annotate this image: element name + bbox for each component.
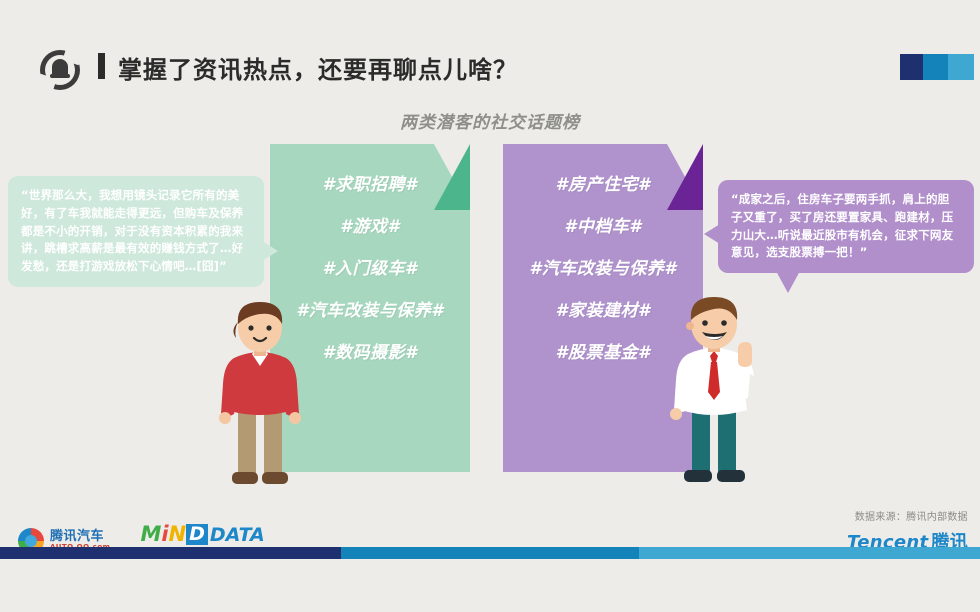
- topic-item: #汽车改装与保养#: [296, 296, 443, 321]
- corner-block-lightblue: [948, 54, 974, 80]
- corner-decoration-blocks: [900, 54, 974, 80]
- page-title: 掌握了资讯热点，还要再聊点儿啥？: [118, 50, 518, 85]
- mindata-letter-i: i: [161, 524, 168, 545]
- corner-block-blue: [923, 54, 948, 80]
- topic-item: #家装建材#: [556, 296, 651, 321]
- mindata-letter-n: N: [169, 524, 187, 545]
- speech-bubble-left: “世界那么大，我想用镜头记录它所有的美好，有了车我就能走得更远，但购车及保养都是…: [8, 176, 264, 287]
- speech-bubble-left-text: “世界那么大，我想用镜头记录它所有的美好，有了车我就能走得更远，但购车及保养都是…: [21, 188, 243, 273]
- source-note: 数据来源：腾讯内部数据: [847, 508, 968, 523]
- mindata-word-data: DATA: [210, 526, 265, 545]
- topic-item: #游戏#: [340, 212, 400, 237]
- camera-aperture-icon: [40, 50, 80, 90]
- topic-item: #中档车#: [564, 212, 641, 237]
- topic-item: #入门级车#: [323, 254, 418, 279]
- bottom-bar-lightblue: [639, 547, 980, 559]
- speech-bubble-left-tail-icon: [262, 241, 278, 261]
- topic-item: #股票基金#: [556, 338, 651, 363]
- mindata-letter-m: M: [140, 524, 161, 545]
- topic-item: #求职招聘#: [323, 170, 418, 195]
- topic-item: #房产住宅#: [556, 170, 651, 195]
- bottom-decoration-bar: [0, 547, 980, 559]
- speech-bubble-right-tail2-icon: [776, 271, 800, 293]
- young-man-red-sweater-illustration: [212, 300, 308, 492]
- topic-item: #数码摄影#: [323, 338, 418, 363]
- topic-item: #汽车改装与保养#: [529, 254, 676, 279]
- mindata-letter-d: D: [186, 524, 208, 545]
- bottom-bar-navy: [0, 547, 341, 559]
- man-white-shirt-red-tie-illustration: [662, 296, 766, 492]
- speech-bubble-right-text: “成家之后，住房车子要两手抓，肩上的胆子又重了，买了房还要置家具、跑建材，压力山…: [731, 192, 953, 259]
- chart-subtitle: 两类潜客的社交话题榜: [0, 108, 980, 133]
- slide-canvas: 掌握了资讯热点，还要再聊点儿啥？ 两类潜客的社交话题榜 #求职招聘# #游戏# …: [0, 0, 980, 612]
- corner-block-navy: [900, 54, 923, 80]
- tencent-auto-cn-label: 腾讯汽车: [50, 530, 110, 544]
- speech-bubble-right: “成家之后，住房车子要两手抓，肩上的胆子又重了，买了房还要置家具、跑建材，压力山…: [718, 180, 974, 273]
- bottom-bar-blue: [341, 547, 639, 559]
- title-accent-bar-icon: [98, 53, 105, 79]
- speech-bubble-right-tail-icon: [704, 224, 720, 244]
